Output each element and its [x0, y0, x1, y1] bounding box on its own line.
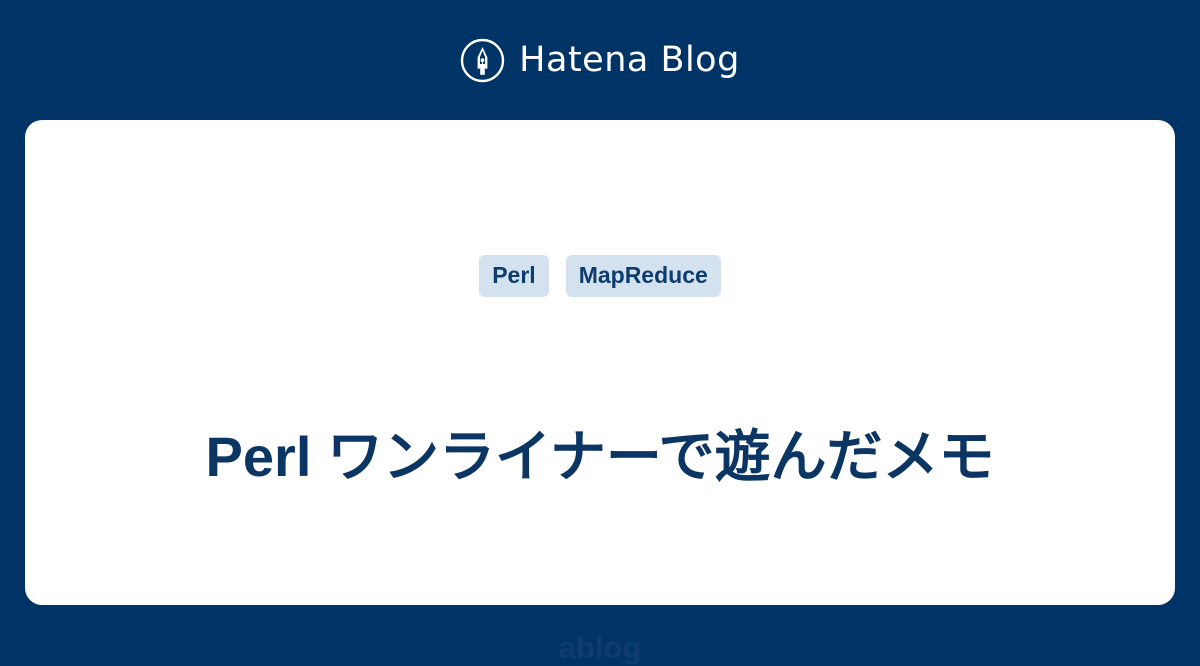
entry-title: Perl ワンライナーで遊んだメモ — [65, 422, 1135, 492]
hatena-blog-logo — [460, 38, 505, 83]
site-header: Hatena Blog — [0, 0, 1200, 120]
tag-mapreduce[interactable]: MapReduce — [566, 255, 721, 297]
site-name: Hatena Blog — [519, 43, 740, 78]
tag-list: Perl MapReduce — [25, 255, 1175, 297]
blog-name[interactable]: ablog — [65, 629, 1135, 666]
pen-nib-icon — [460, 38, 505, 83]
entry-card: Perl MapReduce Perl ワンライナーで遊んだメモ ablog — [25, 120, 1175, 605]
tag-perl[interactable]: Perl — [479, 255, 548, 297]
